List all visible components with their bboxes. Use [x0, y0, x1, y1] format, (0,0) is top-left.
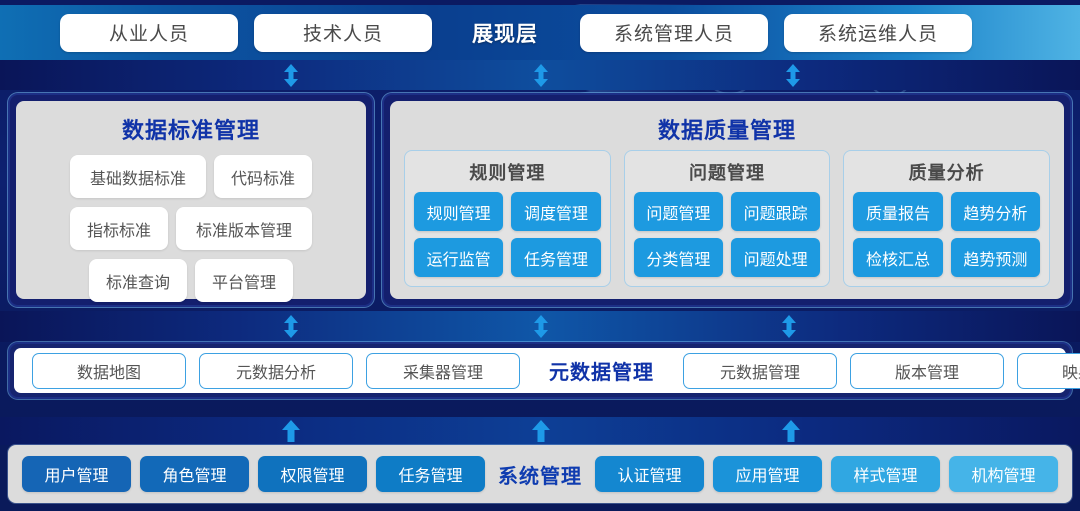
btn-schedule-management[interactable]: 调度管理 [511, 192, 600, 231]
std-item-label: 标准版本管理 [196, 217, 292, 241]
role-chip-label: 系统运维人员 [818, 19, 938, 46]
sys-chip-label: 应用管理 [735, 462, 799, 486]
system-row-title: 系统管理 [494, 460, 586, 489]
sys-chip-org-management[interactable]: 机构管理 [949, 456, 1058, 492]
role-chip-label: 系统管理人员 [614, 19, 734, 46]
data-standard-item-grid: 基础数据标准 代码标准 指标标准 标准版本管理 标准查询 平台管理 [29, 155, 353, 302]
role-chip-system-admin[interactable]: 系统管理人员 [580, 14, 768, 52]
subpanel-issue-management: 问题管理 问题管理 问题跟踪 分类管理 问题处理 [624, 150, 831, 287]
btn-label: 趋势预测 [963, 246, 1027, 270]
btn-rule-management[interactable]: 规则管理 [414, 192, 503, 231]
subpanel-rule-management: 规则管理 规则管理 调度管理 运行监管 任务管理 [404, 150, 611, 287]
btn-task-management[interactable]: 任务管理 [511, 238, 600, 277]
btn-trend-forecast[interactable]: 趋势预测 [951, 238, 1040, 277]
btn-label: 运行监管 [427, 246, 491, 270]
presentation-layer-title: 展现层 [472, 18, 538, 48]
sys-chip-application-management[interactable]: 应用管理 [713, 456, 822, 492]
meta-chip-label: 数据地图 [77, 359, 141, 383]
meta-chip-label: 版本管理 [895, 359, 959, 383]
data-standard-title: 数据标准管理 [16, 113, 366, 145]
connector-band-top [0, 60, 1080, 90]
sys-chip-task-management[interactable]: 任务管理 [376, 456, 485, 492]
sys-chip-label: 机构管理 [971, 462, 1035, 486]
data-standard-panel: 数据标准管理 基础数据标准 代码标准 指标标准 标准版本管理 标准查询 平台管理 [8, 93, 374, 307]
meta-chip-metadata-analysis[interactable]: 元数据分析 [199, 353, 353, 389]
sys-chip-role-management[interactable]: 角色管理 [140, 456, 249, 492]
std-item-code-standard[interactable]: 代码标准 [214, 155, 312, 198]
std-item-version-management[interactable]: 标准版本管理 [176, 207, 312, 250]
sys-chip-label: 任务管理 [398, 462, 462, 486]
btn-audit-summary[interactable]: 检核汇总 [853, 238, 942, 277]
role-chip-label: 技术人员 [303, 19, 383, 46]
arrow-up-icon [281, 420, 301, 442]
role-chip-technician[interactable]: 技术人员 [254, 14, 432, 52]
meta-chip-metadata-management[interactable]: 元数据管理 [683, 353, 837, 389]
architecture-diagram: 从业人员 技术人员 展现层 系统管理人员 系统运维人员 数据标准管理 [0, 0, 1080, 511]
data-quality-subpanels: 规则管理 规则管理 调度管理 运行监管 任务管理 问题管理 问题管理 问题跟踪 … [404, 150, 1050, 287]
btn-label: 规则管理 [427, 200, 491, 224]
btn-label: 分类管理 [646, 246, 710, 270]
btn-label: 检核汇总 [866, 246, 930, 270]
std-item-label: 指标标准 [87, 217, 151, 241]
sys-chip-user-management[interactable]: 用户管理 [22, 456, 131, 492]
btn-issue-handling[interactable]: 问题处理 [731, 238, 820, 277]
sys-chip-label: 用户管理 [44, 462, 108, 486]
subpanel-quality-analysis: 质量分析 质量报告 趋势分析 检核汇总 趋势预测 [843, 150, 1050, 287]
btn-label: 质量报告 [866, 200, 930, 224]
std-item-label: 标准查询 [106, 269, 170, 293]
role-chip-practitioner[interactable]: 从业人员 [60, 14, 238, 52]
btn-category-management[interactable]: 分类管理 [634, 238, 723, 277]
data-quality-title: 数据质量管理 [390, 113, 1064, 145]
btn-quality-report[interactable]: 质量报告 [853, 192, 942, 231]
subpanel-button-grid: 质量报告 趋势分析 检核汇总 趋势预测 [853, 192, 1040, 277]
meta-chip-data-map[interactable]: 数据地图 [32, 353, 186, 389]
btn-label: 问题处理 [744, 246, 808, 270]
std-item-label: 平台管理 [212, 269, 276, 293]
double-arrow-icon [533, 64, 549, 87]
btn-issue-tracking[interactable]: 问题跟踪 [731, 192, 820, 231]
std-item-standard-query[interactable]: 标准查询 [89, 259, 187, 302]
metadata-management-row: 数据地图 元数据分析 采集器管理 元数据管理 元数据管理 版本管理 映射管理 [8, 342, 1072, 399]
sys-chip-style-management[interactable]: 样式管理 [831, 456, 940, 492]
double-arrow-icon [781, 315, 797, 338]
double-arrow-icon [283, 64, 299, 87]
data-quality-panel: 数据质量管理 规则管理 规则管理 调度管理 运行监管 任务管理 问题管理 问题管… [382, 93, 1072, 307]
btn-label: 任务管理 [524, 246, 588, 270]
subpanel-button-grid: 规则管理 调度管理 运行监管 任务管理 [414, 192, 601, 277]
subpanel-title: 问题管理 [634, 159, 821, 185]
connector-band-bottom [0, 417, 1080, 445]
meta-chip-label: 元数据分析 [236, 359, 316, 383]
btn-label: 问题管理 [646, 200, 710, 224]
subpanel-title: 规则管理 [414, 159, 601, 185]
std-item-basic-data-standard[interactable]: 基础数据标准 [70, 155, 206, 198]
subpanel-title: 质量分析 [853, 159, 1040, 185]
btn-trend-analysis[interactable]: 趋势分析 [951, 192, 1040, 231]
std-item-label: 基础数据标准 [90, 165, 186, 189]
presentation-layer-row: 从业人员 技术人员 展现层 系统管理人员 系统运维人员 [0, 5, 1080, 60]
sys-chip-label: 角色管理 [162, 462, 226, 486]
role-chip-label: 从业人员 [109, 19, 189, 46]
sys-chip-label: 权限管理 [280, 462, 344, 486]
meta-chip-label: 映射管理 [1062, 359, 1080, 383]
sys-chip-label: 样式管理 [853, 462, 917, 486]
btn-issue-management[interactable]: 问题管理 [634, 192, 723, 231]
system-management-row: 用户管理 角色管理 权限管理 任务管理 系统管理 认证管理 应用管理 样式管理 … [8, 445, 1072, 503]
arrow-up-icon [531, 420, 551, 442]
btn-label: 趋势分析 [963, 200, 1027, 224]
std-item-label: 代码标准 [231, 165, 295, 189]
std-item-platform-management[interactable]: 平台管理 [195, 259, 293, 302]
arrow-up-icon [781, 420, 801, 442]
metadata-row-title: 元数据管理 [543, 356, 660, 385]
role-chip-system-ops[interactable]: 系统运维人员 [784, 14, 972, 52]
meta-chip-label: 采集器管理 [403, 359, 483, 383]
sys-chip-permission-management[interactable]: 权限管理 [258, 456, 367, 492]
sys-chip-auth-management[interactable]: 认证管理 [595, 456, 704, 492]
meta-chip-collector-management[interactable]: 采集器管理 [366, 353, 520, 389]
meta-chip-version-management[interactable]: 版本管理 [850, 353, 1004, 389]
double-arrow-icon [785, 64, 801, 87]
double-arrow-icon [533, 315, 549, 338]
meta-chip-mapping-management[interactable]: 映射管理 [1017, 353, 1080, 389]
connector-band-middle [0, 311, 1080, 342]
btn-label: 调度管理 [524, 200, 588, 224]
double-arrow-icon [283, 315, 299, 338]
sys-chip-label: 认证管理 [617, 462, 681, 486]
btn-label: 问题跟踪 [744, 200, 808, 224]
btn-runtime-monitoring[interactable]: 运行监管 [414, 238, 503, 277]
subpanel-button-grid: 问题管理 问题跟踪 分类管理 问题处理 [634, 192, 821, 277]
meta-chip-label: 元数据管理 [720, 359, 800, 383]
std-item-indicator-standard[interactable]: 指标标准 [70, 207, 168, 250]
